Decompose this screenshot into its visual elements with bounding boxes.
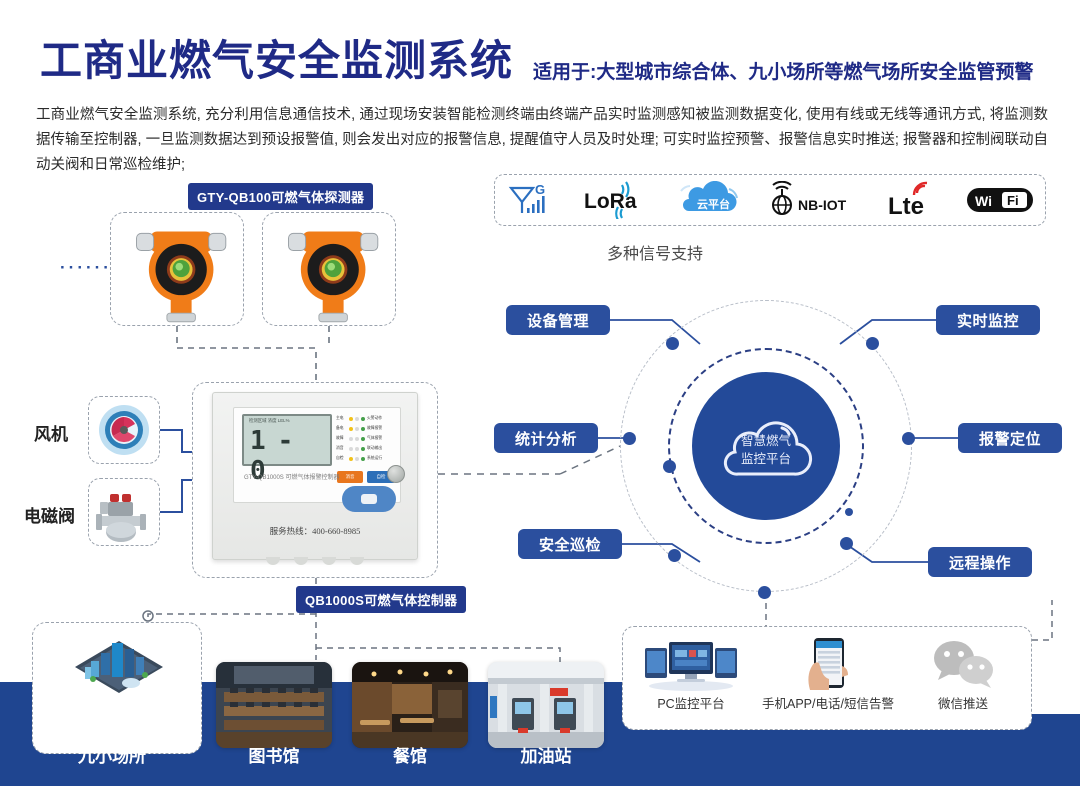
led-row: 自检 系统运行 <box>336 454 396 463</box>
svg-text:Wi: Wi <box>975 193 992 209</box>
led-indicator <box>349 437 353 441</box>
led-label-right: 气体报警 <box>367 436 387 441</box>
nbiot-icon: NB-IOT <box>768 175 864 225</box>
controller-panel: 检测区域 浓度 LEL% 1- 0 主电 火警动作 备电 故障报警 故障 <box>233 407 401 503</box>
detector-frame-1 <box>110 212 244 326</box>
feature-pill-device-management[interactable]: 设备管理 <box>506 305 610 335</box>
fan-label: 风机 <box>34 420 68 445</box>
fan-frame <box>88 396 160 464</box>
svg-text:G: G <box>535 182 545 197</box>
keypad-center[interactable] <box>361 494 377 504</box>
feature-pill-safety-inspection[interactable]: 安全巡检 <box>518 529 622 559</box>
lte-icon: Lte <box>887 175 943 225</box>
scene-frame-nine-small-places <box>32 622 202 754</box>
lora-icon: LoRa <box>582 175 648 225</box>
led-label-left: 故障 <box>336 436 349 441</box>
svg-text:云平台: 云平台 <box>697 197 730 211</box>
feature-pill-statistical-analysis[interactable]: 统计分析 <box>494 423 598 453</box>
led-indicator <box>349 427 353 431</box>
orbit-node-safety-inspection <box>668 549 681 562</box>
controller-keypad[interactable] <box>342 486 396 512</box>
controller-hotline: 服务热线：400-660-8985 <box>213 525 417 537</box>
led-indicator <box>361 427 365 431</box>
led-indicator <box>355 437 359 441</box>
orbit-node-statistical-analysis <box>623 432 636 445</box>
led-indicator <box>355 447 359 451</box>
led-indicator <box>361 437 365 441</box>
wifi-icon: Wi Fi <box>966 175 1034 225</box>
solenoid-valve-frame <box>88 478 160 546</box>
scene-image-restaurant <box>352 662 468 748</box>
detector-frame-2 <box>262 212 396 326</box>
orbit-node-device-management <box>666 337 679 350</box>
cloud-shape-icon: 智慧燃气 监控平台 <box>714 408 818 484</box>
notification-channels-panel: PC监控平台 手机APP/电话/短信告警 <box>622 626 1032 730</box>
signal-support-strip: G LoRa 云平台 <box>494 174 1046 226</box>
page-subtitle: 适用于:大型城市综合体、九小场所等燃气场所安全监管预警 <box>533 57 1033 84</box>
led-indicator <box>355 427 359 431</box>
solenoid-valve-label: 电磁阀 <box>24 502 75 527</box>
led-indicator <box>349 447 353 451</box>
feature-pill-alarm-location[interactable]: 报警定位 <box>958 423 1062 453</box>
channel-wechat-push: 微信推送 <box>898 627 1028 712</box>
led-label-left: 备电 <box>336 426 349 431</box>
controller-power-knob[interactable] <box>387 465 405 483</box>
led-label-right: 系统运行 <box>367 456 387 461</box>
led-indicator <box>361 457 365 461</box>
page-title: 工商业燃气安全监测系统 <box>40 40 513 82</box>
cloud-platform-hub: 智慧燃气 监控平台 <box>692 372 840 520</box>
scene-image-gas-station <box>488 662 604 748</box>
led-indicator <box>349 417 353 421</box>
led-label-right: 故障报警 <box>367 426 387 431</box>
cloud-platform-name: 智慧燃气 监控平台 <box>714 432 818 468</box>
controller-brand-text: GTY-QB1000S 可燃气体报警控制器 <box>244 472 339 481</box>
wechat-icon <box>898 635 1028 693</box>
detector-label-badge: GTY-QB100可燃气体探测器 <box>188 183 373 210</box>
channel-mobile-app-alarm: 手机APP/电话/短信告警 <box>762 627 892 712</box>
orbit-node-bottom <box>758 586 771 599</box>
infographic-page: 工商业燃气安全监测系统 适用于:大型城市综合体、九小场所等燃气场所安全监管预警 … <box>0 0 1080 786</box>
scene-caption-nine-small-places: 九小场所 <box>32 742 192 767</box>
controller-mute-button[interactable]: 消音 <box>337 471 363 483</box>
orbit-node-alarm-location <box>902 432 915 445</box>
feature-pill-remote-operation[interactable]: 远程操作 <box>928 547 1032 577</box>
controller-lcd: 检测区域 浓度 LEL% 1- 0 <box>242 414 332 466</box>
pc-monitoring-icon <box>626 635 756 693</box>
led-indicator <box>361 417 365 421</box>
controller-label-badge: QB1000S可燃气体控制器 <box>296 586 466 613</box>
led-indicator <box>361 447 365 451</box>
lcd-header-text: 检测区域 浓度 LEL% <box>249 418 290 424</box>
led-row: 主电 火警动作 <box>336 414 396 423</box>
led-indicator <box>355 417 359 421</box>
scene-caption-gas-station: 加油站 <box>466 742 626 767</box>
detector-ellipsis: ······ <box>60 258 112 278</box>
isometric-city-icon <box>73 635 165 705</box>
mobile-app-icon <box>762 635 892 693</box>
orbit-node-inner-left <box>663 460 676 473</box>
cloud-platform-icon: 云平台 <box>671 175 745 225</box>
orbit-node-realtime-monitoring <box>866 337 879 350</box>
svg-text:Fi: Fi <box>1007 193 1019 208</box>
channel-label-pc: PC监控平台 <box>626 693 756 712</box>
controller-led-panel: 主电 火警动作 备电 故障报警 故障 气体报警 <box>336 414 396 464</box>
led-row: 备电 故障报警 <box>336 424 396 433</box>
svg-text:NB-IOT: NB-IOT <box>798 197 847 213</box>
led-label-left: 主电 <box>336 416 349 421</box>
orbit-node-remote-operation <box>840 537 853 550</box>
led-label-left: 自检 <box>336 456 349 461</box>
led-indicator <box>349 457 353 461</box>
controller-device: 检测区域 浓度 LEL% 1- 0 主电 火警动作 备电 故障报警 故障 <box>212 392 418 560</box>
svg-text:Lte: Lte <box>888 193 924 219</box>
led-label-left: 消音 <box>336 446 349 451</box>
svg-text:LoRa: LoRa <box>584 190 637 213</box>
channel-pc-monitoring-platform: PC监控平台 <box>626 627 756 712</box>
channel-label-mobile: 手机APP/电话/短信告警 <box>762 693 892 712</box>
led-label-right: 火警动作 <box>367 416 387 421</box>
orbit-node-inner-right <box>845 508 853 516</box>
led-row: 消音 联动输出 <box>336 444 396 453</box>
scene-image-library <box>216 662 332 748</box>
led-indicator <box>355 457 359 461</box>
led-label-right: 联动输出 <box>367 446 387 451</box>
platform-name-line1: 智慧燃气 <box>714 432 818 450</box>
intro-paragraph: 工商业燃气安全监测系统, 充分利用信息通信技术, 通过现场安装智能检测终端由终端… <box>36 103 1048 178</box>
antenna-2g4g-icon: G <box>507 175 559 225</box>
led-row: 故障 气体报警 <box>336 434 396 443</box>
feature-pill-realtime-monitoring[interactable]: 实时监控 <box>936 305 1040 335</box>
platform-name-line2: 监控平台 <box>714 450 818 468</box>
controller-feet <box>213 557 417 565</box>
channel-label-wechat: 微信推送 <box>898 693 1028 712</box>
